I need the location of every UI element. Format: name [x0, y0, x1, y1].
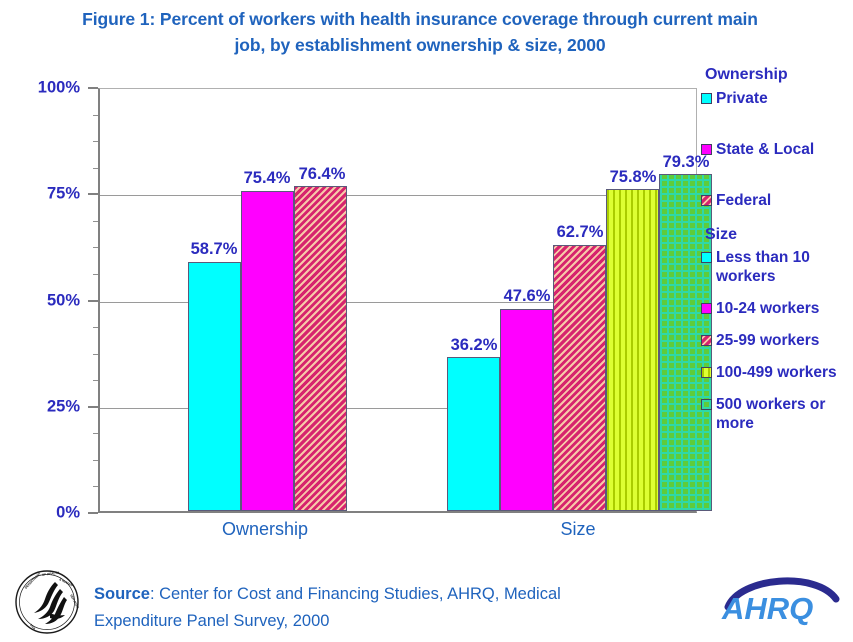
footer: DEPARTMENT OF HEALTH & HUMAN SERVICES US… — [0, 565, 853, 642]
ahrq-logo-icon: AHRQ — [718, 569, 843, 631]
bar-label-size-100-499: 75.8% — [610, 168, 657, 187]
y-tick-mark-25 — [88, 406, 98, 408]
legend-heading-size: Size — [705, 226, 853, 244]
page-title-line2: job, by establishment ownership & size, … — [14, 32, 826, 58]
source-line2: Expenditure Panel Survey, 2000 — [94, 612, 329, 630]
bar-size-10-24[interactable] — [500, 309, 553, 511]
bar-size-100-499[interactable] — [606, 189, 659, 511]
y-tick-mark-75 — [88, 193, 98, 195]
y-tick-label-25: 25% — [47, 397, 80, 416]
legend: Ownership Private State & Local Federal … — [701, 66, 853, 433]
bar-label-ownership-federal: 76.4% — [299, 165, 346, 184]
y-tick-mark-100 — [88, 87, 98, 89]
ahrq-wordmark: AHRQ — [721, 591, 813, 626]
y-axis: 100% 75% 50% 25% 0% — [0, 0, 98, 642]
magenta-swatch-icon — [701, 303, 712, 314]
legend-label-less-than-10: Less than 10 workers — [716, 248, 853, 286]
legend-item-10-24[interactable]: 10-24 workers — [701, 299, 853, 318]
legend-label-25-99: 25-99 workers — [716, 331, 819, 350]
legend-item-500-or-more[interactable]: 500 workers or more — [701, 395, 853, 433]
hatched-pink-swatch-icon — [701, 195, 712, 206]
grid-green-swatch-icon — [701, 399, 712, 410]
legend-item-private[interactable]: Private — [701, 89, 853, 108]
legend-item-state-local[interactable]: State & Local — [701, 140, 853, 159]
bar-ownership-federal[interactable] — [294, 186, 347, 511]
legend-label-100-499: 100-499 workers — [716, 363, 837, 382]
legend-label-state-local: State & Local — [716, 140, 814, 159]
bar-label-ownership-state-local: 75.4% — [244, 169, 291, 188]
legend-item-less-than-10[interactable]: Less than 10 workers — [701, 248, 853, 286]
hhs-seal-icon: DEPARTMENT OF HEALTH & HUMAN SERVICES US… — [14, 569, 80, 635]
y-tick-label-75: 75% — [47, 185, 80, 204]
page-title-line1: Figure 1: Percent of workers with health… — [82, 9, 758, 29]
bar-label-size-less-than-10: 36.2% — [451, 336, 498, 355]
legend-label-10-24: 10-24 workers — [716, 299, 819, 318]
bar-ownership-state-local[interactable] — [241, 191, 294, 512]
bar-label-size-10-24: 47.6% — [504, 287, 551, 306]
y-tick-label-0: 0% — [56, 504, 80, 523]
cyan-swatch-icon — [701, 252, 712, 263]
plot-area: 58.7% 75.4% 76.4% 36.2% 47.6% 62.7% 75.8… — [98, 88, 697, 513]
cyan-swatch-icon — [701, 93, 712, 104]
striped-yellowgreen-swatch-icon — [701, 367, 712, 378]
legend-label-private: Private — [716, 89, 768, 108]
source-citation: Source: Center for Cost and Financing St… — [94, 581, 694, 635]
svg-text:& HUMAN: & HUMAN — [59, 577, 75, 587]
source-line1-rest: : Center for Cost and Financing Studies,… — [150, 585, 561, 603]
x-axis-label-size: Size — [560, 519, 595, 540]
legend-label-federal: Federal — [716, 191, 771, 210]
x-axis-label-ownership: Ownership — [222, 519, 308, 540]
legend-item-federal[interactable]: Federal — [701, 191, 853, 210]
y-tick-label-100: 100% — [38, 79, 80, 98]
legend-item-25-99[interactable]: 25-99 workers — [701, 331, 853, 350]
legend-item-100-499[interactable]: 100-499 workers — [701, 363, 853, 382]
hatched-pink-swatch-icon — [701, 335, 712, 346]
y-tick-label-50: 50% — [47, 291, 80, 310]
svg-text:USA: USA — [29, 623, 37, 631]
y-tick-mark-0 — [88, 512, 98, 514]
legend-label-500-or-more: 500 workers or more — [716, 395, 853, 433]
page-title: Figure 1: Percent of workers with health… — [14, 6, 826, 58]
source-label: Source — [94, 585, 150, 603]
bar-ownership-private[interactable] — [188, 262, 241, 512]
y-tick-mark-50 — [88, 300, 98, 302]
magenta-swatch-icon — [701, 144, 712, 155]
bar-size-less-than-10[interactable] — [447, 357, 500, 511]
bar-label-size-25-99: 62.7% — [557, 223, 604, 242]
bar-size-25-99[interactable] — [553, 245, 606, 512]
bar-label-ownership-private: 58.7% — [191, 240, 238, 259]
legend-heading-ownership: Ownership — [705, 66, 853, 84]
